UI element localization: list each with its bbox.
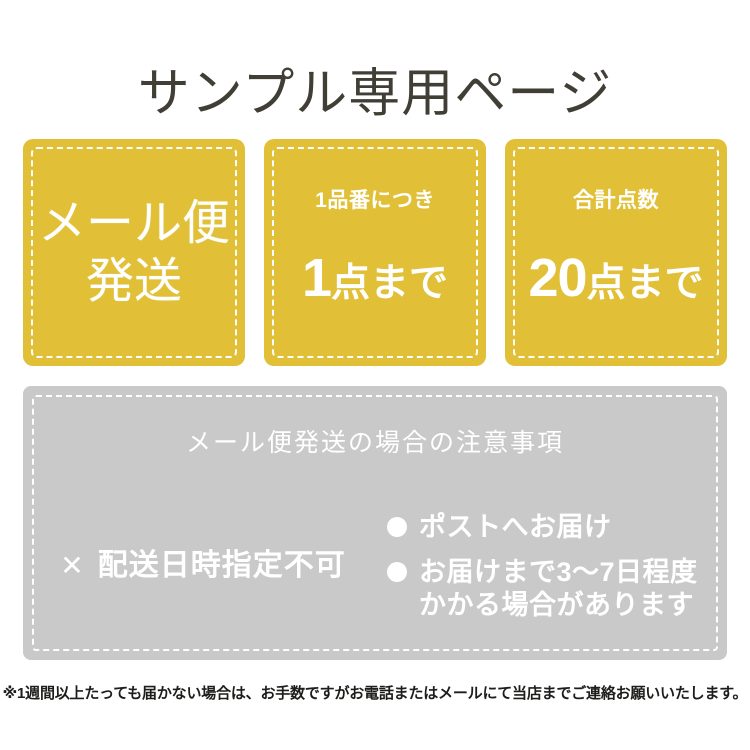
sample-info-page: サンプル専用ページ メール便 発送 1品番につき 1点まで 合計点数 — [0, 0, 750, 750]
footer-note: ※1週間以上たっても届かない場合は、お手数ですがお電話またはメールにて当店までご… — [0, 684, 750, 704]
notice-bullet-list: ポストへお届け お届けまで3〜7日程度 かかる場合があります — [383, 511, 727, 622]
card-per-item-limit-number: 1 — [302, 248, 331, 308]
notice-panel: メール便発送の場合の注意事項 ✕ 配送日時指定不可 ポストへお届け お届けまで3… — [23, 386, 727, 660]
cross-icon: ✕ — [60, 552, 83, 580]
notice-body: ✕ 配送日時指定不可 ポストへお届け お届けまで3〜7日程度 かかる場合がありま… — [23, 496, 727, 636]
highlight-cards-row: メール便 発送 1品番につき 1点まで 合計点数 20点まで — [23, 139, 727, 366]
card-shipping-method: メール便 発送 — [23, 139, 245, 366]
card-shipping-method-content: メール便 発送 — [23, 195, 245, 311]
card-per-item-limit: 1品番につき 1点まで — [264, 139, 486, 366]
bullet-text: お届けまで3〜7日程度 かかる場合があります — [419, 556, 698, 622]
card-total-limit: 合計点数 20点まで — [505, 139, 727, 366]
card-per-item-limit-value: 1点まで — [264, 252, 486, 318]
list-item: ポストへお届け — [387, 511, 727, 544]
card-per-item-limit-content: 1品番につき 1点まで — [264, 188, 486, 318]
card-total-limit-label: 合計点数 — [505, 188, 727, 214]
card-per-item-limit-unit: 点まで — [331, 262, 448, 305]
notice-left-item: ✕ 配送日時指定不可 — [23, 548, 383, 584]
list-item: お届けまで3〜7日程度 かかる場合があります — [387, 556, 727, 622]
bullet-dot-icon — [387, 517, 407, 537]
bullet-dot-icon — [387, 562, 407, 582]
card-total-limit-unit: 点まで — [587, 262, 704, 305]
notice-heading: メール便発送の場合の注意事項 — [23, 428, 727, 458]
card-shipping-method-line1: メール便 — [23, 195, 245, 253]
notice-left-text: 配送日時指定不可 — [98, 548, 346, 584]
card-total-limit-content: 合計点数 20点まで — [505, 188, 727, 318]
page-title: サンプル専用ページ — [0, 63, 750, 125]
card-shipping-method-line2: 発送 — [23, 253, 245, 311]
bullet-text: ポストへお届け — [419, 511, 612, 544]
card-total-limit-value: 20点まで — [505, 252, 727, 318]
card-total-limit-number: 20 — [528, 248, 586, 308]
card-per-item-limit-label: 1品番につき — [264, 188, 486, 214]
